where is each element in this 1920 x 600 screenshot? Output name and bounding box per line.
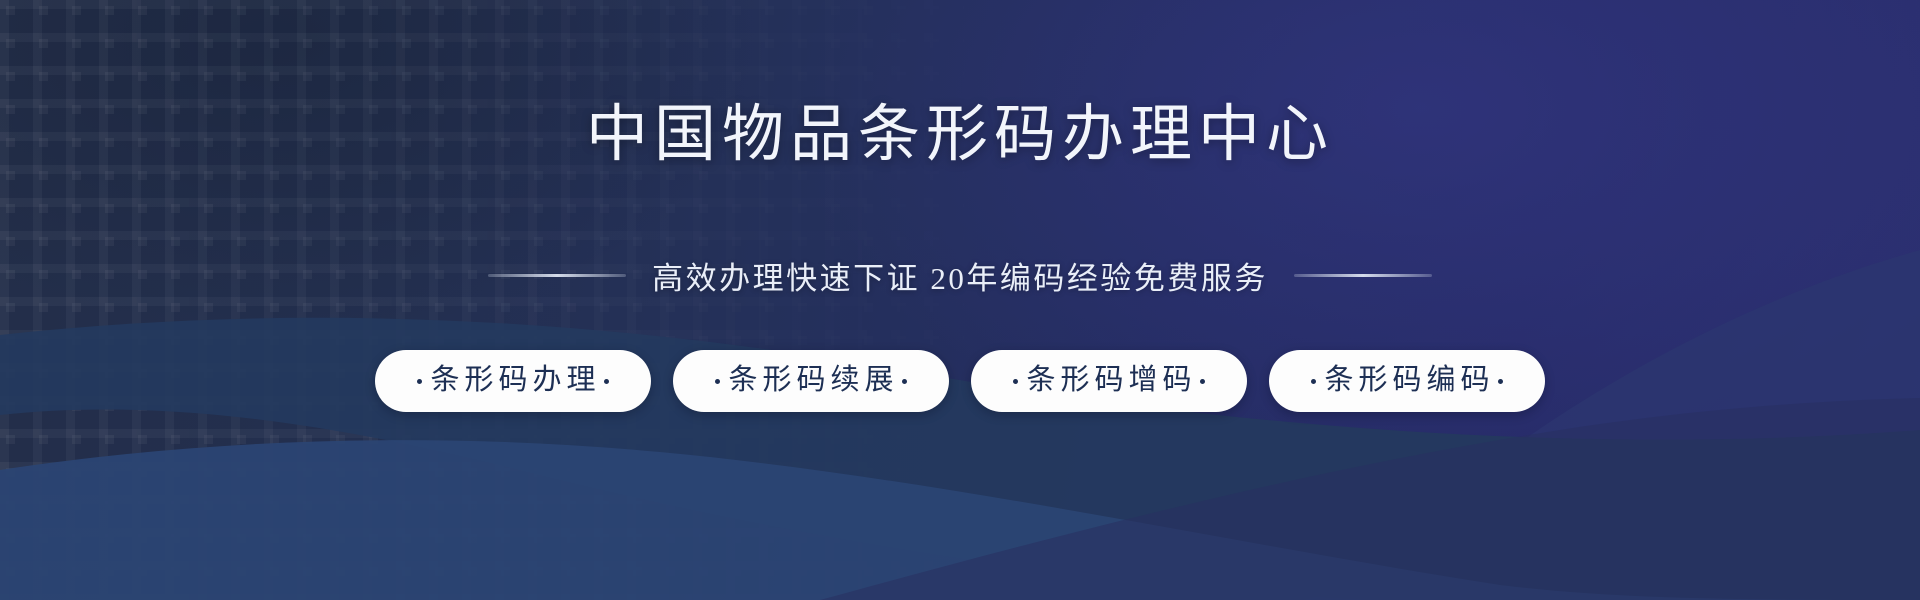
page-title: 中国物品条形码办理中心 (586, 104, 1334, 166)
pill-inner: 条形码续展 (715, 366, 906, 397)
bullet-dot-icon (1311, 379, 1316, 384)
banner-content: 中国物品条形码办理中心 高效办理快速下证 20年编码经验免费服务 条形码办理 条… (0, 0, 1920, 600)
pill-inner: 条形码办理 (417, 366, 608, 397)
rule-left-icon (488, 274, 626, 277)
service-button-banli[interactable]: 条形码办理 (375, 350, 651, 412)
service-button-bianma[interactable]: 条形码编码 (1269, 350, 1545, 412)
service-button-label: 条形码增码 (1021, 366, 1196, 397)
subtitle-text: 高效办理快速下证 20年编码经验免费服务 (652, 253, 1268, 298)
bullet-dot-icon (417, 379, 422, 384)
service-button-label: 条形码办理 (425, 366, 600, 397)
bullet-dot-icon (715, 379, 720, 384)
pill-inner: 条形码增码 (1013, 366, 1204, 397)
subtitle-row: 高效办理快速下证 20年编码经验免费服务 (488, 253, 1432, 298)
bullet-dot-icon (604, 379, 609, 384)
service-button-group: 条形码办理 条形码续展 条形码增码 (375, 350, 1545, 412)
pill-inner: 条形码编码 (1311, 366, 1502, 397)
bullet-dot-icon (902, 379, 907, 384)
bullet-dot-icon (1498, 379, 1503, 384)
bullet-dot-icon (1200, 379, 1205, 384)
service-button-label: 条形码编码 (1319, 366, 1494, 397)
service-button-xuzhan[interactable]: 条形码续展 (673, 350, 949, 412)
bullet-dot-icon (1013, 379, 1018, 384)
rule-right-icon (1294, 274, 1432, 277)
promo-banner: 中国物品条形码办理中心 高效办理快速下证 20年编码经验免费服务 条形码办理 条… (0, 0, 1920, 600)
service-button-label: 条形码续展 (723, 366, 898, 397)
service-button-zengma[interactable]: 条形码增码 (971, 350, 1247, 412)
